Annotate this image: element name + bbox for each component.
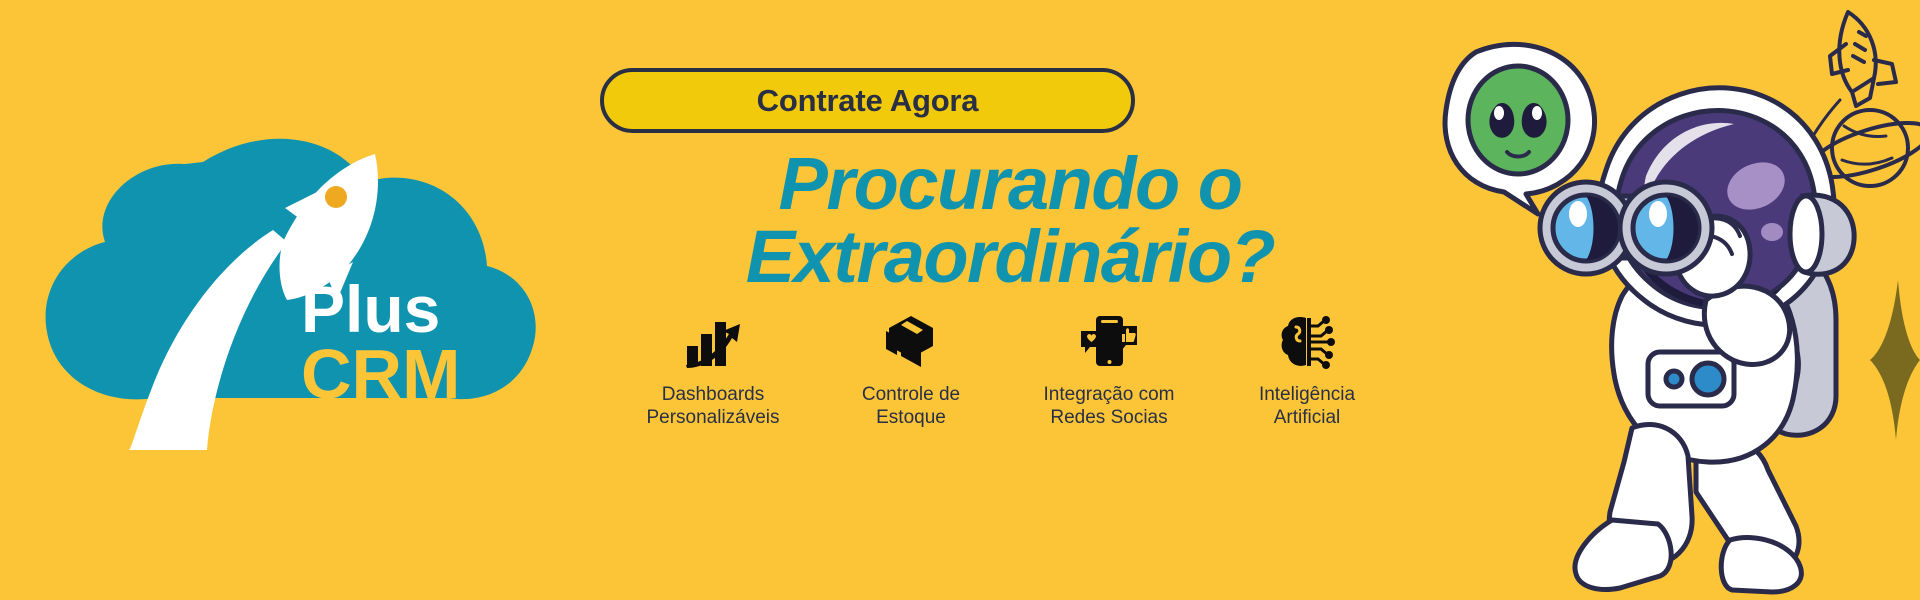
headline-line-1: Procurando o [778, 142, 1241, 225]
feature-item-redes-sociais: Integração com Redes Socias [1034, 312, 1184, 429]
feature-item-estoque: Controle de Estoque [836, 312, 986, 429]
feature-item-inteligencia-artificial: Inteligência Artificial [1232, 312, 1382, 429]
page-title: Procurando o Extraordinário? [560, 148, 1460, 293]
astronaut-with-binoculars-illustration [1400, 0, 1920, 600]
feature-label: Controle de Estoque [862, 383, 960, 429]
sparkle-star [1870, 280, 1920, 440]
headline-line-2: Extraordinário? [560, 221, 1460, 294]
bar-chart-growth-icon [685, 312, 741, 372]
boot-front [1575, 520, 1671, 589]
astronaut-character [1540, 88, 1854, 592]
phone-social-icon [1080, 312, 1138, 372]
feature-label: Integração com Redes Socias [1044, 383, 1175, 429]
feature-list: Dashboards Personalizáveis Controle de E… [500, 312, 1520, 429]
visor-glare-small [1761, 223, 1783, 241]
helmet-earpiece [1790, 195, 1854, 274]
plus-crm-logo: Plus CRM [35, 120, 565, 450]
rocket-window-dot [325, 186, 347, 208]
feature-label: Dashboards Personalizáveis [646, 383, 779, 429]
feature-item-dashboards: Dashboards Personalizáveis [638, 312, 788, 429]
center-content: Contrate Agora Procurando o Extraordinár… [560, 0, 1460, 600]
binoculars [1540, 182, 1712, 274]
promo-banner: Plus CRM Contrate Agora Procurando o Ext… [0, 0, 1920, 600]
logo-word-crm: CRM [301, 335, 460, 413]
cta-wrapper: Contrate Agora [600, 68, 1135, 133]
boxes-inventory-icon [883, 312, 939, 372]
chest-panel [1648, 352, 1734, 406]
ai-brain-circuit-icon [1279, 312, 1335, 372]
contrate-agora-button[interactable]: Contrate Agora [600, 68, 1135, 133]
feature-label: Inteligência Artificial [1259, 383, 1355, 429]
